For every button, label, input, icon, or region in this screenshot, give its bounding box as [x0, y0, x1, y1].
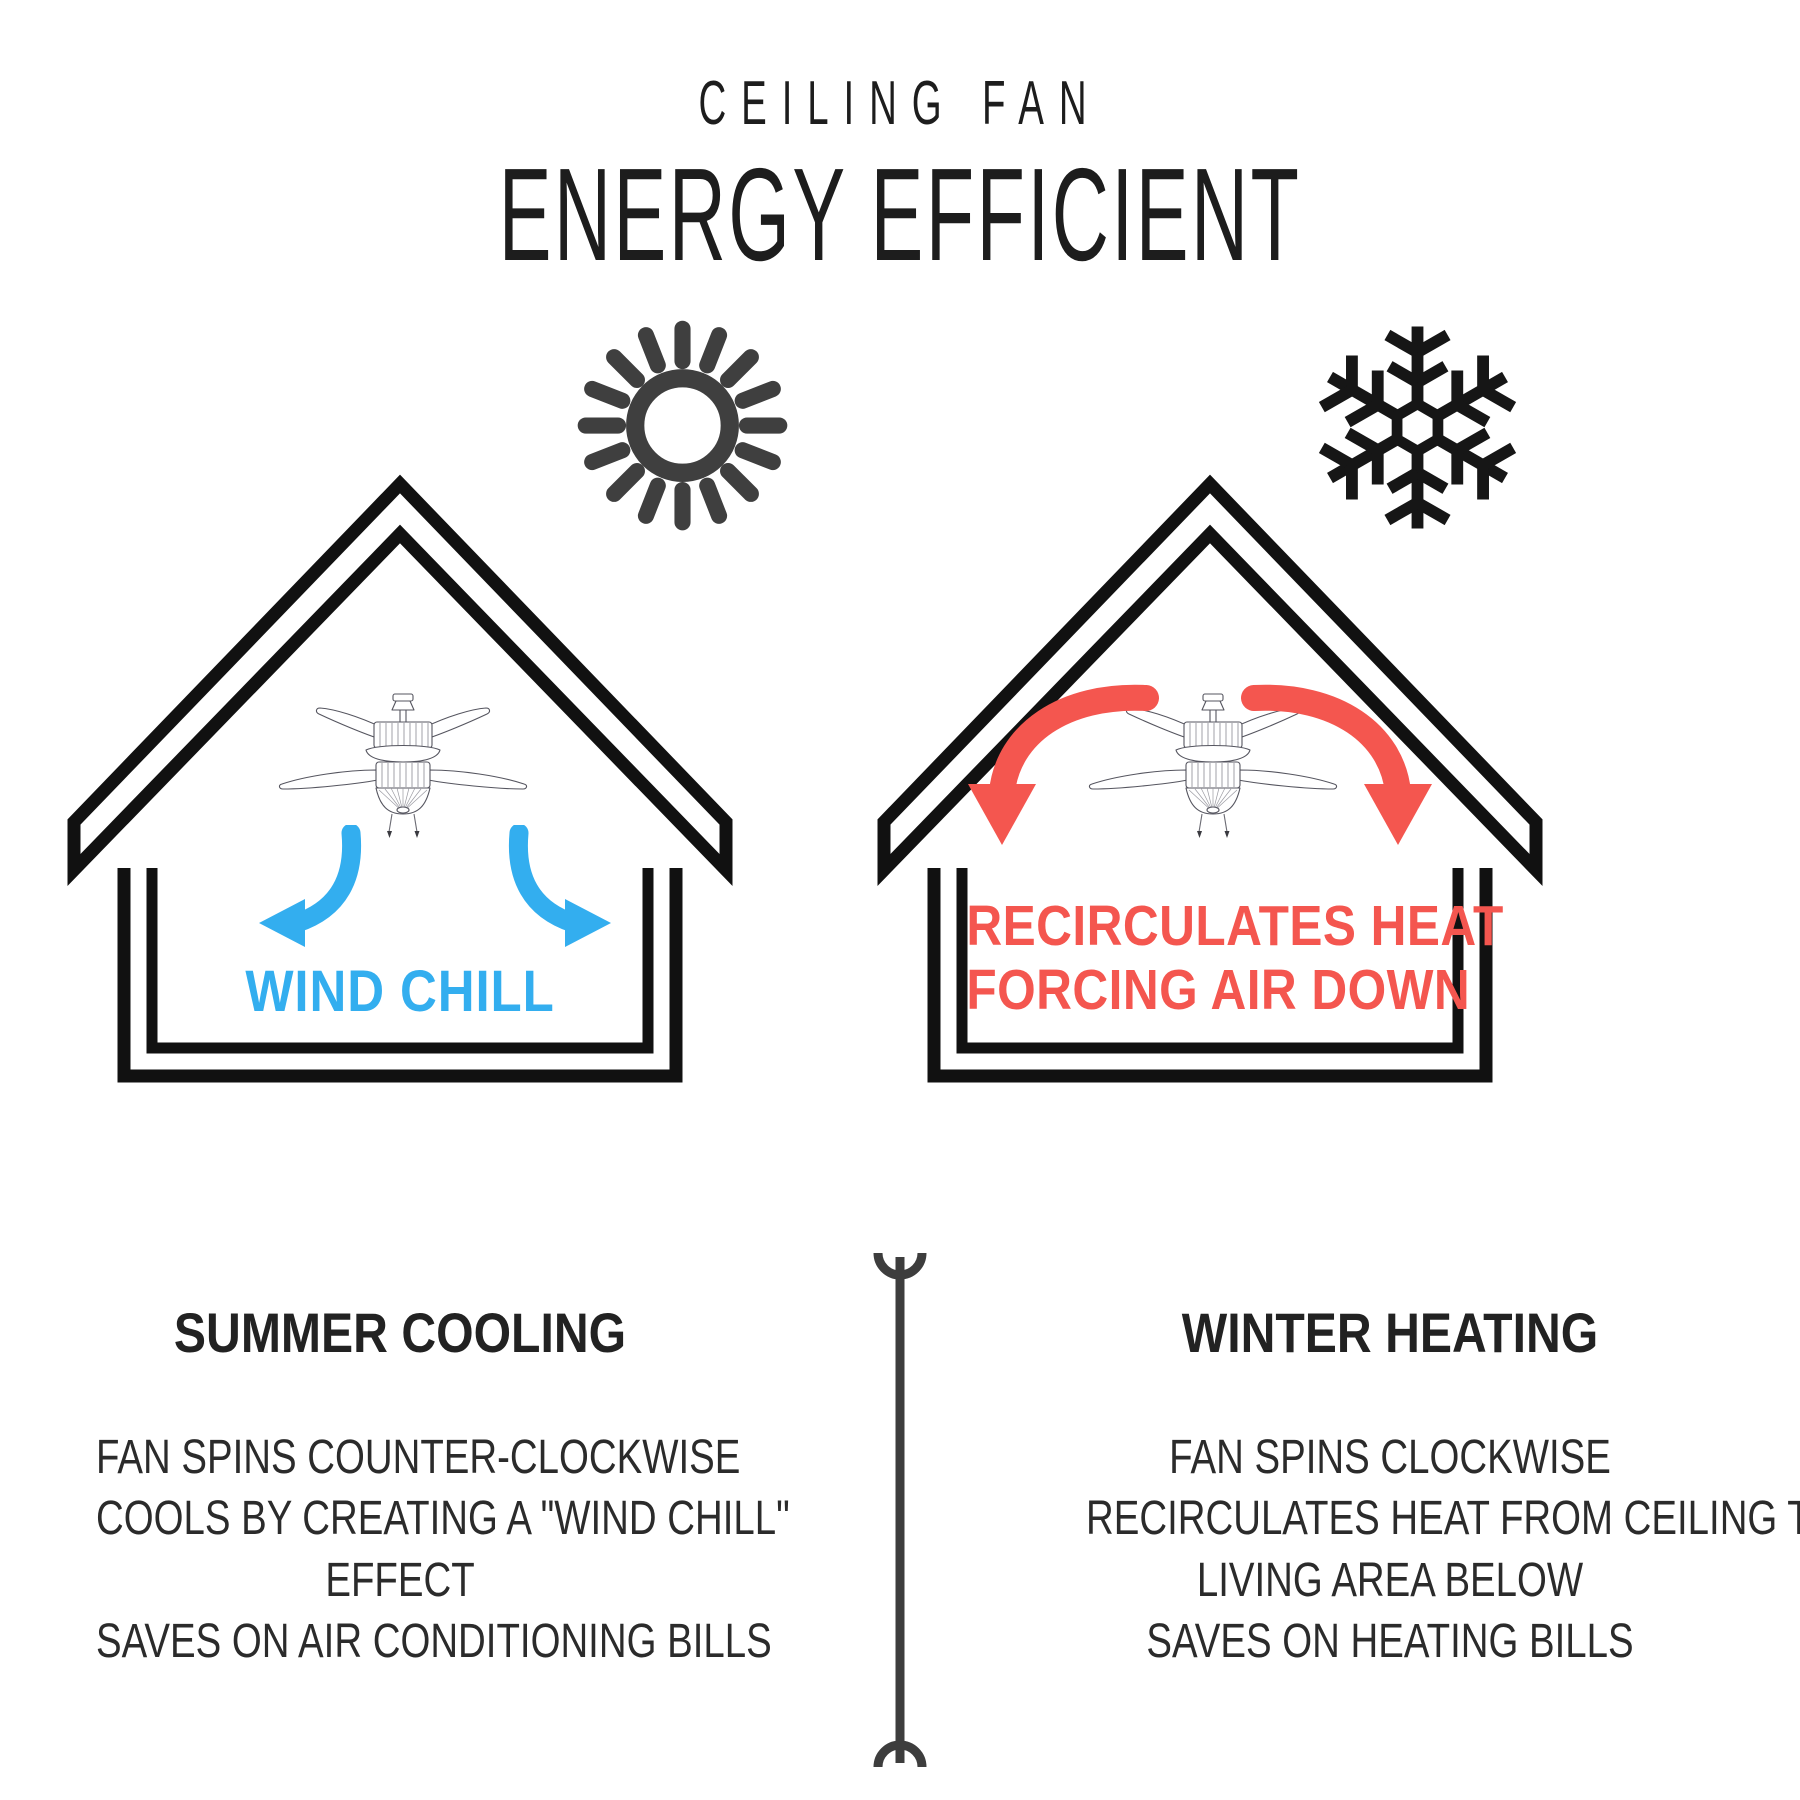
summer-body-line-4: SAVES ON AIR CONDITIONING BILLS: [96, 1611, 704, 1672]
airflow-arrows-summer: [235, 825, 635, 965]
summer-body-line-2: COOLS BY CREATING A "WIND CHILL": [96, 1488, 704, 1549]
page-eyebrow: CEILING FAN: [342, 68, 1458, 139]
winter-body-line-4: SAVES ON HEATING BILLS: [1086, 1611, 1694, 1672]
summer-body: FAN SPINS COUNTER-CLOCKWISE COOLS BY CRE…: [96, 1427, 704, 1673]
winter-body-line-1: FAN SPINS CLOCKWISE: [1086, 1427, 1694, 1488]
callout-winter-line2: FORCING AIR DOWN: [966, 959, 1453, 1023]
winter-body-line-3: LIVING AREA BELOW: [1086, 1550, 1694, 1611]
callout-winter-line1: RECIRCULATES HEAT: [966, 895, 1453, 959]
winter-body-line-2: RECIRCULATES HEAT FROM CEILING TO: [1086, 1488, 1694, 1549]
panel-summer-cooling: SUMMER COOLING FAN SPINS COUNTER-CLOCKWI…: [20, 1300, 780, 1673]
ceiling-fan-summer: [238, 690, 568, 840]
summer-title: SUMMER COOLING: [73, 1300, 727, 1365]
callout-summer-line: WIND CHILL: [171, 960, 629, 1025]
infographic-canvas: CEILING FAN ENERGY EFFICIENT: [0, 0, 1800, 1800]
callout-wind-chill: WIND CHILL: [171, 960, 629, 1025]
summer-body-line-1: FAN SPINS COUNTER-CLOCKWISE: [96, 1427, 704, 1488]
airflow-arrows-winter: [960, 680, 1440, 855]
winter-title: WINTER HEATING: [1063, 1300, 1717, 1365]
center-divider: [760, 1245, 1040, 1775]
winter-body: FAN SPINS CLOCKWISE RECIRCULATES HEAT FR…: [1086, 1427, 1694, 1673]
summer-body-line-3: EFFECT: [96, 1550, 704, 1611]
page-title: ENERGY EFFICIENT: [360, 142, 1440, 287]
panel-winter-heating: WINTER HEATING FAN SPINS CLOCKWISE RECIR…: [1010, 1300, 1770, 1673]
callout-recirculates-heat: RECIRCULATES HEAT FORCING AIR DOWN: [966, 895, 1453, 1023]
